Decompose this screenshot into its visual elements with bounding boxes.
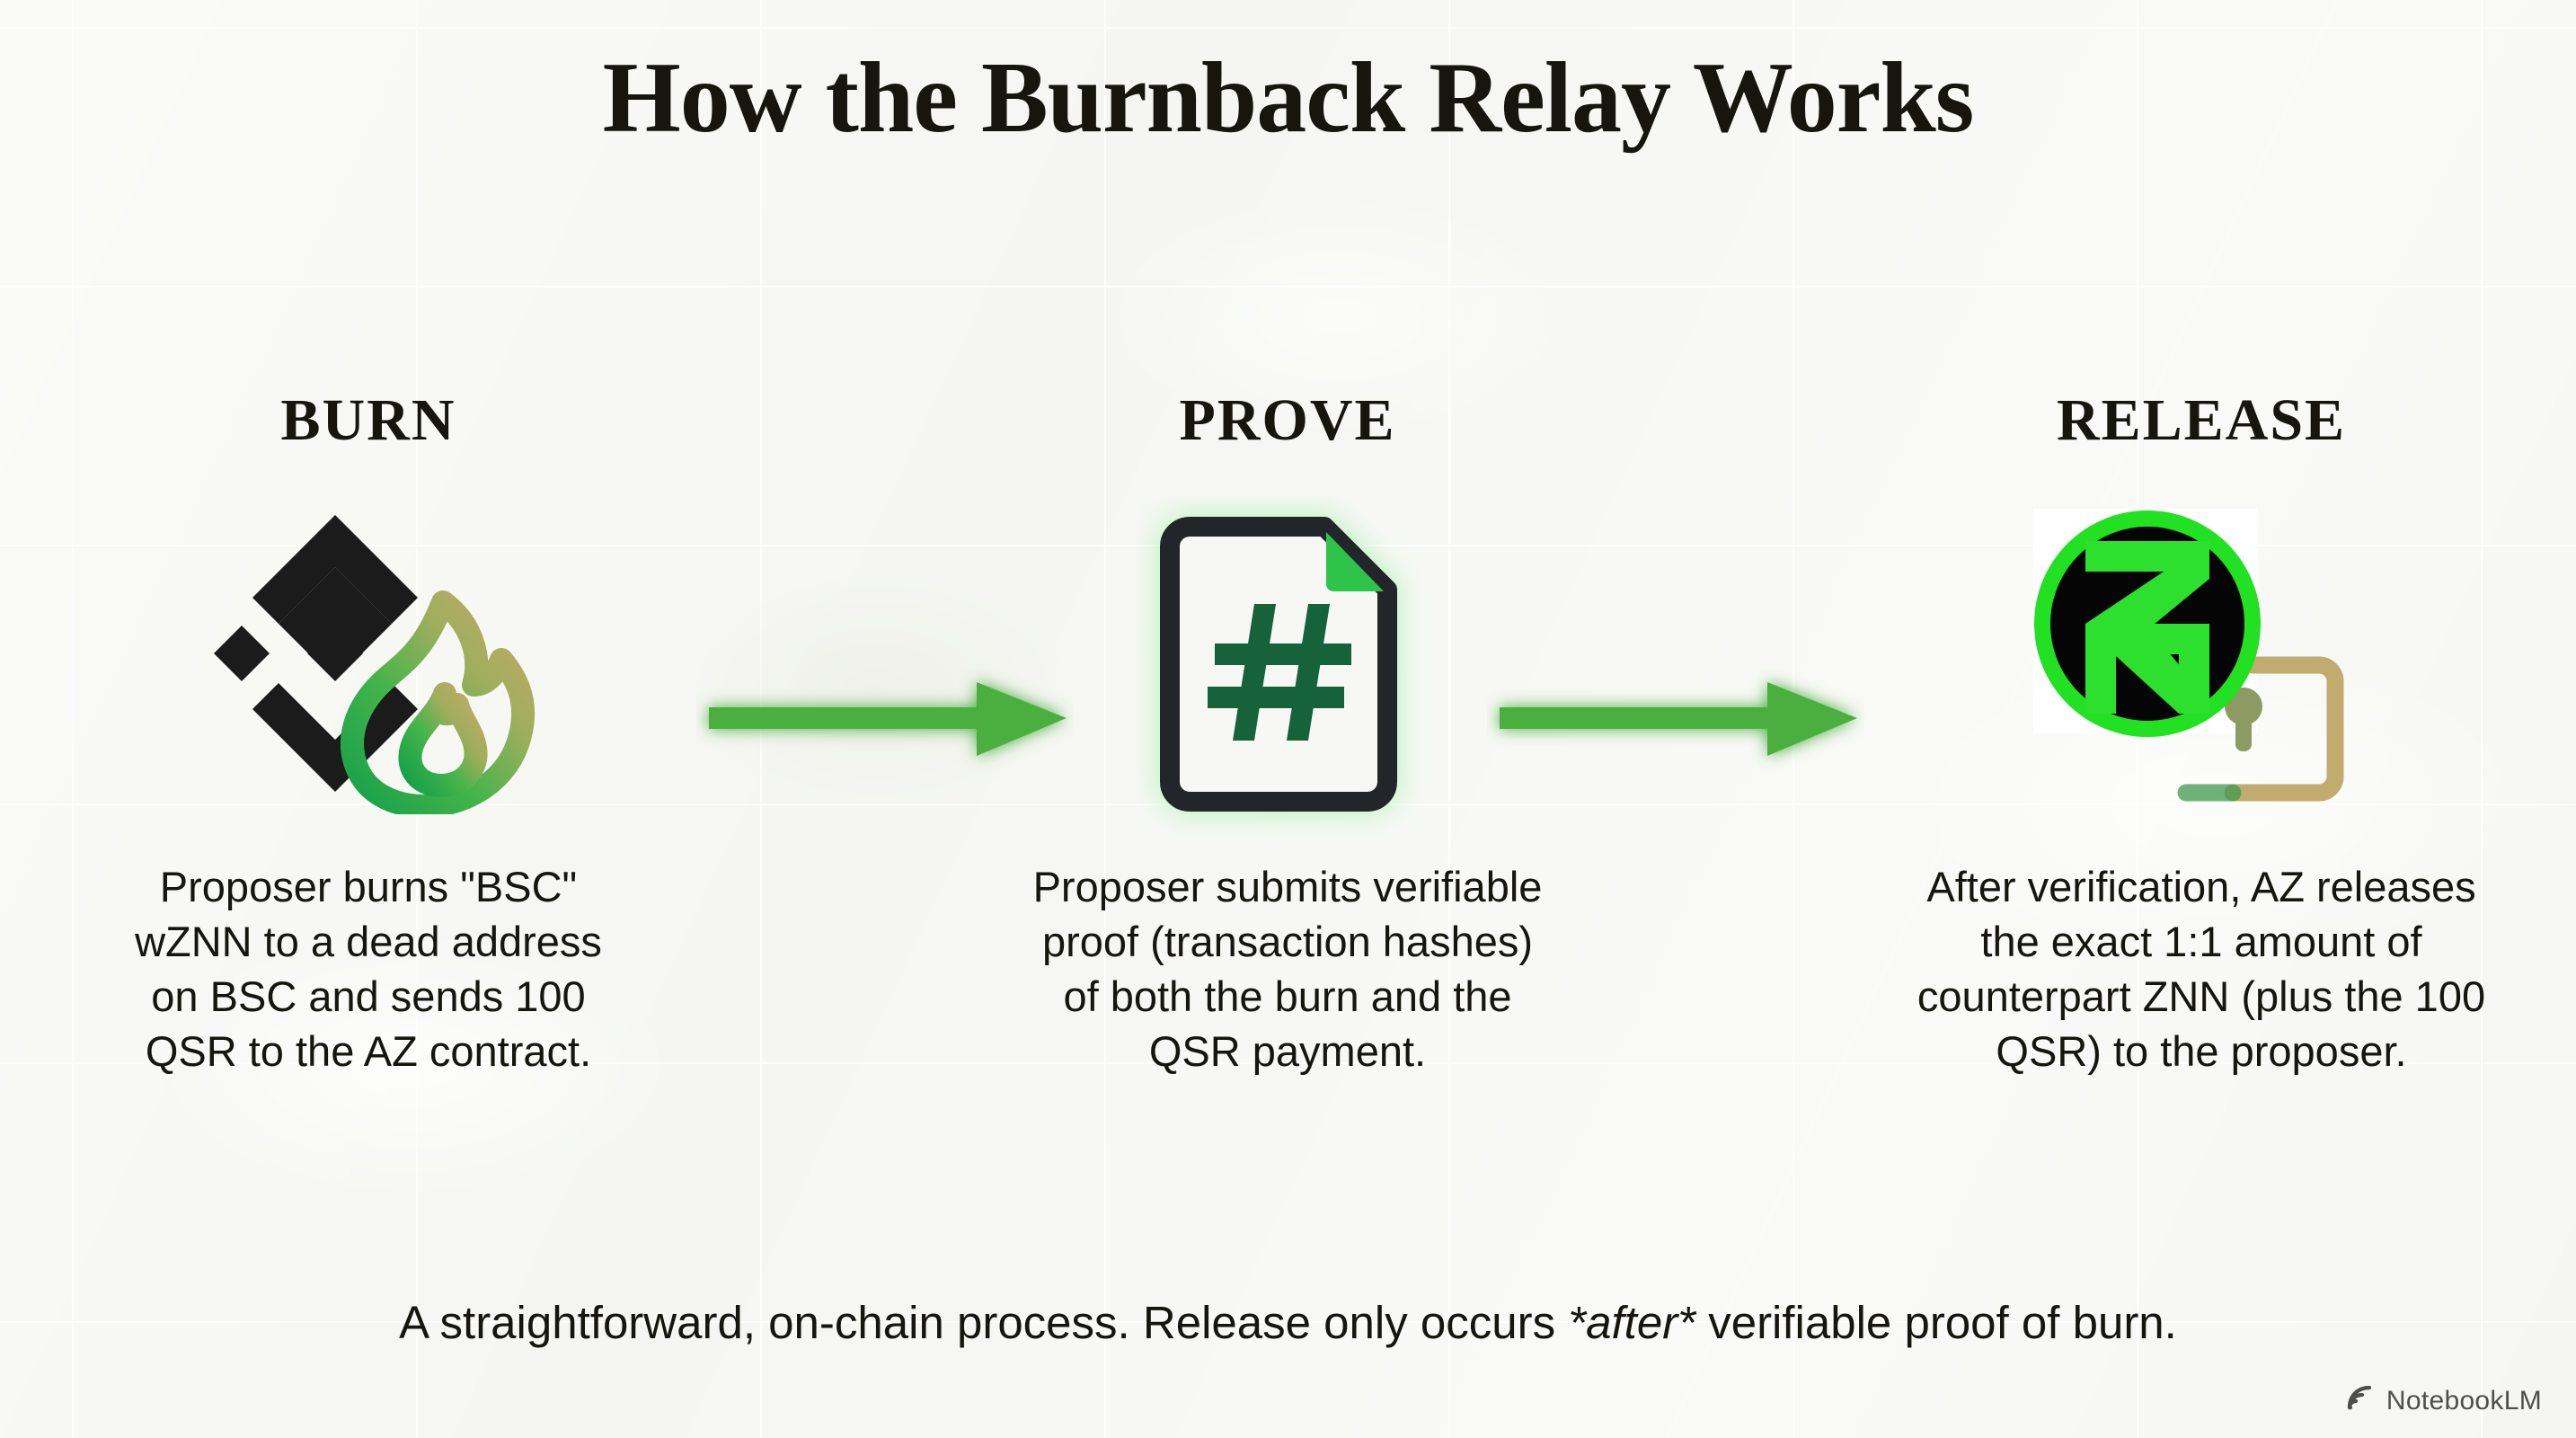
step-label-release: RELEASE	[1860, 386, 2543, 464]
step-label-burn: BURN	[27, 386, 710, 464]
notebooklm-watermark: NotebookLM	[2346, 1384, 2542, 1418]
arrow-right-icon	[1500, 682, 1857, 756]
notebooklm-label: NotebookLM	[2386, 1386, 2542, 1416]
step-body-release: After verification, AZ releases the exac…	[1860, 859, 2543, 1078]
step-body-prove: Proposer submits verifiable proof (trans…	[946, 859, 1629, 1078]
caption-text-before: A straightforward, on-chain process. Rel…	[399, 1297, 1568, 1348]
step-icon-stage-release	[1860, 516, 2543, 803]
footer-caption: A straightforward, on-chain process. Rel…	[0, 1296, 2576, 1349]
step-body-burn: Proposer burns "BSC" wZNN to a dead addr…	[27, 859, 710, 1078]
notebooklm-spiral-icon	[2346, 1384, 2375, 1418]
page-title: How the Burnback Relay Works	[0, 43, 2576, 154]
caption-text-after: verifiable proof of burn.	[1695, 1297, 2177, 1348]
infographic-canvas: How the Burnback Relay Works BURN	[0, 0, 2576, 1438]
step-icon-stage-burn	[27, 516, 710, 803]
binance-flame-icon	[157, 509, 580, 814]
znn-coin-shape	[2034, 510, 2261, 737]
arrow-prove-to-release	[1487, 668, 1864, 774]
caption-emphasis: *after*	[1568, 1297, 1695, 1348]
binance-logo-shape	[214, 515, 418, 792]
znn-coin-padlock-icon	[2008, 489, 2395, 839]
step-label-prove: PROVE	[946, 386, 1629, 464]
hash-document-icon	[1139, 496, 1436, 838]
step-column-release: RELEASE	[1860, 386, 2543, 1078]
step-column-burn: BURN	[27, 386, 710, 1078]
